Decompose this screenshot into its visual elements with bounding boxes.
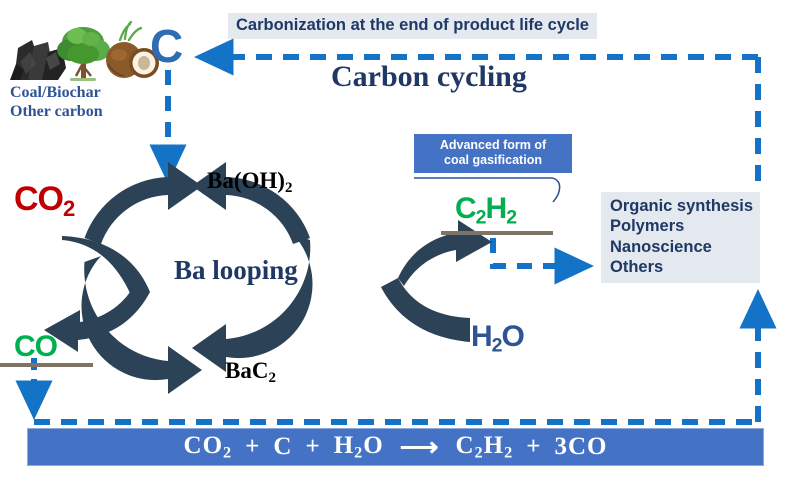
water-sub: 2 [492, 334, 502, 356]
equation-plus-2: + [305, 433, 320, 461]
eq-c2h2-c: C [455, 432, 474, 459]
co2-subscript: 2 [63, 196, 74, 221]
eq-h2o-h: H [334, 432, 354, 459]
eq-h2o-o: O [363, 432, 383, 459]
co2-inlet-arrow [62, 212, 150, 300]
gasification-callout-line2: coal gasification [421, 153, 565, 168]
equation-arrow: ⟶ [400, 432, 440, 463]
equation-product-3co: 3CO [554, 433, 607, 461]
co-text: CO [14, 330, 57, 363]
eq-co2-text: CO [184, 432, 224, 459]
eq-co2-sub: 2 [223, 443, 232, 461]
acetylene-underline [441, 231, 553, 235]
acetylene-sub1: 2 [476, 206, 486, 228]
barium-carbide-label: BaC2 [225, 358, 276, 387]
equation-plus-3: + [526, 433, 541, 461]
uses-item-2: Nanoscience [610, 237, 753, 257]
barium-hydroxide-label: Ba(OH)2 [207, 168, 292, 197]
co2-text: CO [14, 180, 63, 218]
barium-hydroxide-subscript: 2 [285, 180, 292, 196]
uses-item-1: Polymers [610, 216, 753, 236]
co-label: CO [14, 330, 57, 364]
ba-looping-title: Ba looping [174, 255, 298, 286]
equation-reactant-h2o: H2O [334, 432, 384, 463]
eq-h2o-sub: 2 [354, 443, 363, 461]
eq-c2h2-sub1: 2 [475, 443, 484, 461]
figure-canvas: Coal/Biochar Other carbon C Carbonizatio… [0, 0, 805, 486]
equation-reactant-c: C [273, 433, 292, 461]
uses-item-0: Organic synthesis [610, 196, 753, 216]
eq-c2h2-h: H [484, 432, 504, 459]
barium-carbide-text: BaC [225, 358, 268, 383]
overall-equation-bar: CO2 + C + H2O ⟶ C2H2 + 3CO [27, 428, 764, 466]
uses-box: Organic synthesis Polymers Nanoscience O… [601, 192, 760, 283]
barium-hydroxide-text: Ba(OH) [207, 168, 285, 193]
acetylene-outlet-arrow [398, 220, 492, 286]
water-label: H2O [471, 320, 524, 357]
uses-item-3: Others [610, 257, 753, 277]
callout-leader-line [412, 172, 572, 208]
ba-looping-title-text: Ba looping [174, 255, 298, 285]
h2o-inlet-arrow [381, 278, 470, 342]
equation-reactant-co2: CO2 [184, 432, 233, 463]
co2-label: CO2 [14, 180, 74, 222]
barium-carbide-subscript: 2 [268, 370, 275, 386]
equation-product-c2h2: C2H2 [455, 432, 513, 463]
co-underline [0, 363, 93, 367]
water-h: H [471, 320, 492, 353]
gasification-callout-line1: Advanced form of [421, 138, 565, 153]
acetylene-sub2: 2 [506, 206, 516, 228]
equation-plus-1: + [245, 433, 260, 461]
co-outlet-arrow [44, 286, 150, 352]
water-o: O [502, 320, 524, 353]
gasification-callout: Advanced form of coal gasification [414, 134, 572, 173]
eq-c2h2-sub2: 2 [504, 443, 513, 461]
